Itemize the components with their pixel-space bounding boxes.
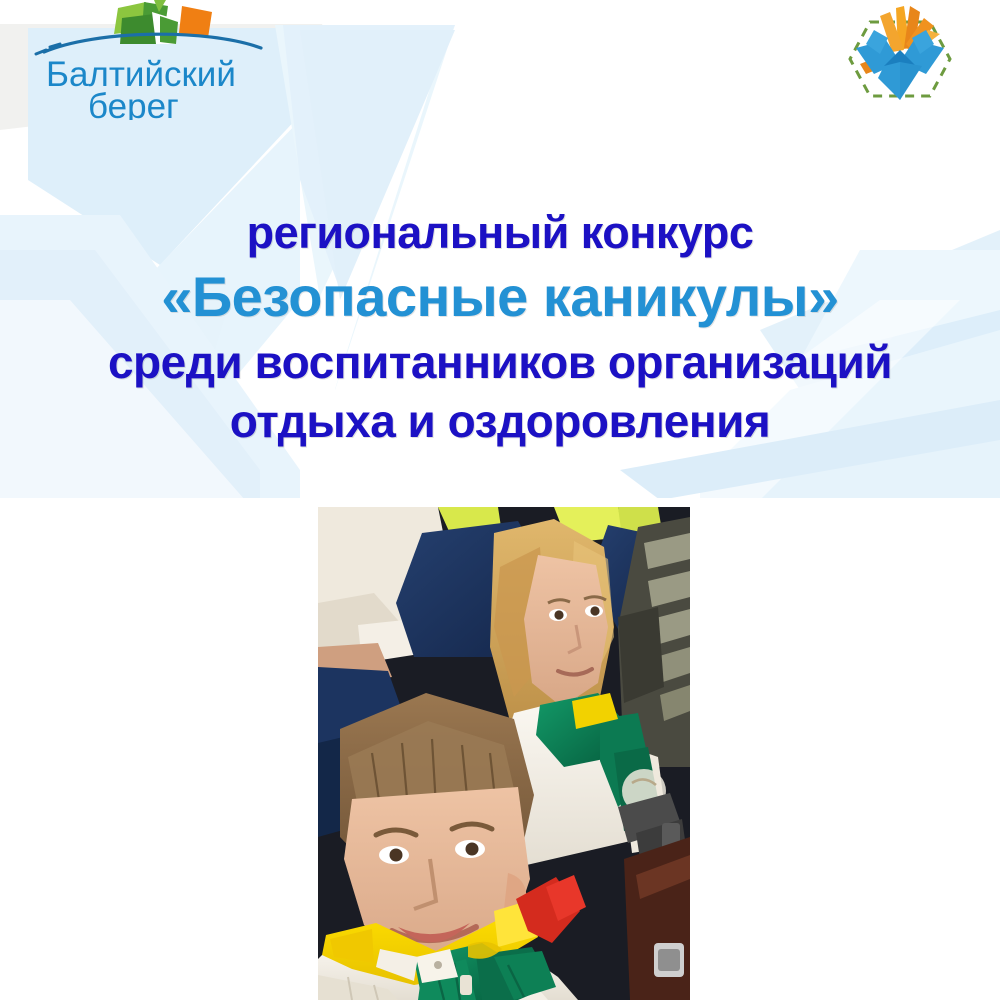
brand-logo[interactable]: Балтийский берег [26, 0, 286, 120]
headline-line-4: отдыха и оздоровления [0, 396, 1000, 447]
bg-top-mid-white [455, 0, 815, 230]
emblem-icon[interactable] [840, 4, 960, 104]
bg-top-left-white [300, 0, 460, 22]
headline-line-3: среди воспитанников организаций [0, 337, 1000, 388]
brand-logo-line2: берег [88, 87, 179, 120]
event-photo [318, 507, 690, 1000]
headline-block: региональный конкурс «Безопасные каникул… [0, 208, 1000, 446]
brand-logo-mark [114, 0, 212, 44]
poster-root: Балтийский берег Балтийский берег [0, 0, 1000, 1000]
photo-girl-face [524, 555, 608, 707]
headline-line-1: региональный конкурс [0, 208, 1000, 258]
headline-line-2: «Безопасные каникулы» [0, 266, 1000, 328]
